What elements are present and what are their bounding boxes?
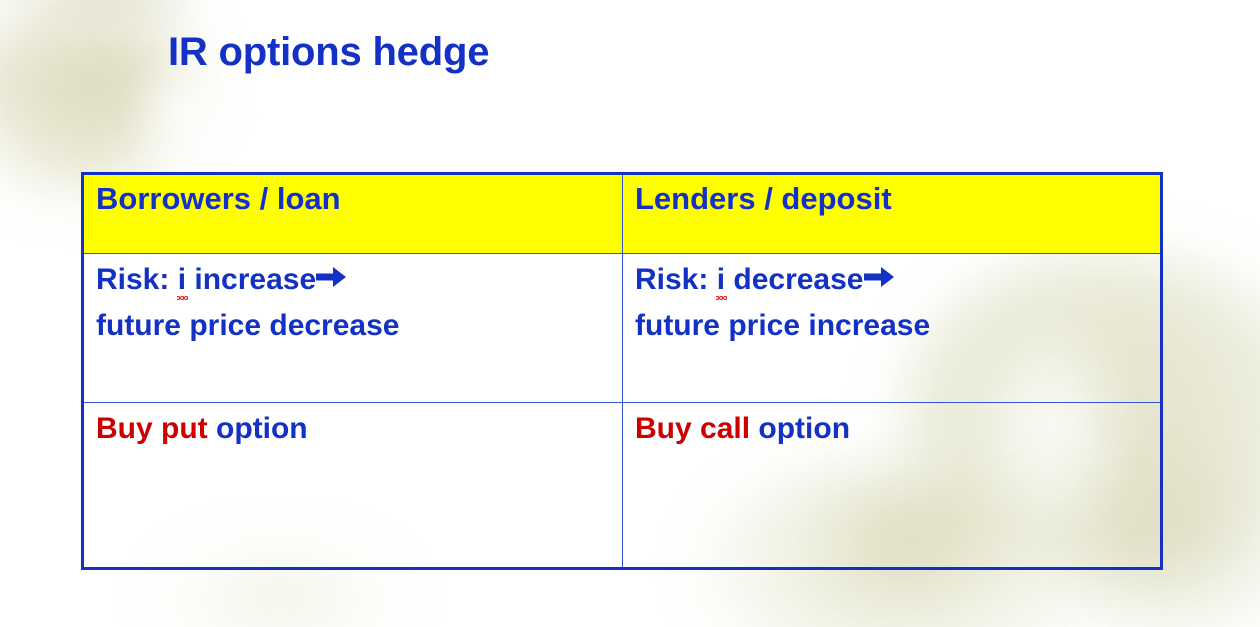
table-header-row: Borrowers / loan Lenders / deposit — [83, 174, 1162, 254]
action-emphasis-lenders: Buy call — [635, 412, 750, 445]
risk-line-borrowers-1: Risk: i increase — [96, 260, 622, 301]
action-rest-lenders: option — [750, 412, 850, 445]
risk-prefix-borrowers: Risk: — [96, 263, 178, 296]
action-rest-borrowers: option — [208, 412, 308, 445]
table-header-label-borrowers: Borrowers / loan — [96, 181, 341, 216]
action-line-lenders: Buy call option — [635, 409, 1160, 450]
risk-cell-borrowers: Risk: i increase future price decrease — [83, 254, 623, 403]
misspelled-word-i-lenders: i — [717, 260, 725, 301]
risk-line-borrowers-2: future price decrease — [96, 306, 622, 347]
table-header-cell-lenders: Lenders / deposit — [623, 174, 1162, 254]
misspelled-word-i-borrowers: i — [178, 260, 186, 301]
risk-suffix-borrowers: increase — [186, 263, 316, 296]
action-emphasis-borrowers: Buy put — [96, 412, 208, 445]
risk-suffix-lenders: decrease — [725, 263, 863, 296]
table-row-action: Buy put option Buy call option — [83, 403, 1162, 569]
action-line-borrowers: Buy put option — [96, 409, 622, 450]
arrow-right-icon — [864, 264, 894, 290]
risk-prefix-lenders: Risk: — [635, 263, 717, 296]
table-header-cell-borrowers: Borrowers / loan — [83, 174, 623, 254]
risk-line-lenders-2: future price increase — [635, 306, 1160, 347]
table-header-label-lenders: Lenders / deposit — [635, 181, 892, 216]
arrow-right-icon — [316, 264, 346, 290]
risk-cell-lenders: Risk: i decrease future price increase — [623, 254, 1162, 403]
action-cell-borrowers: Buy put option — [83, 403, 623, 569]
table-row-risk: Risk: i increase future price decrease R… — [83, 254, 1162, 403]
ir-options-hedge-table: Borrowers / loan Lenders / deposit Risk:… — [81, 172, 1163, 570]
risk-line-lenders-1: Risk: i decrease — [635, 260, 1160, 301]
page-title: IR options hedge — [168, 30, 489, 75]
action-cell-lenders: Buy call option — [623, 403, 1162, 569]
